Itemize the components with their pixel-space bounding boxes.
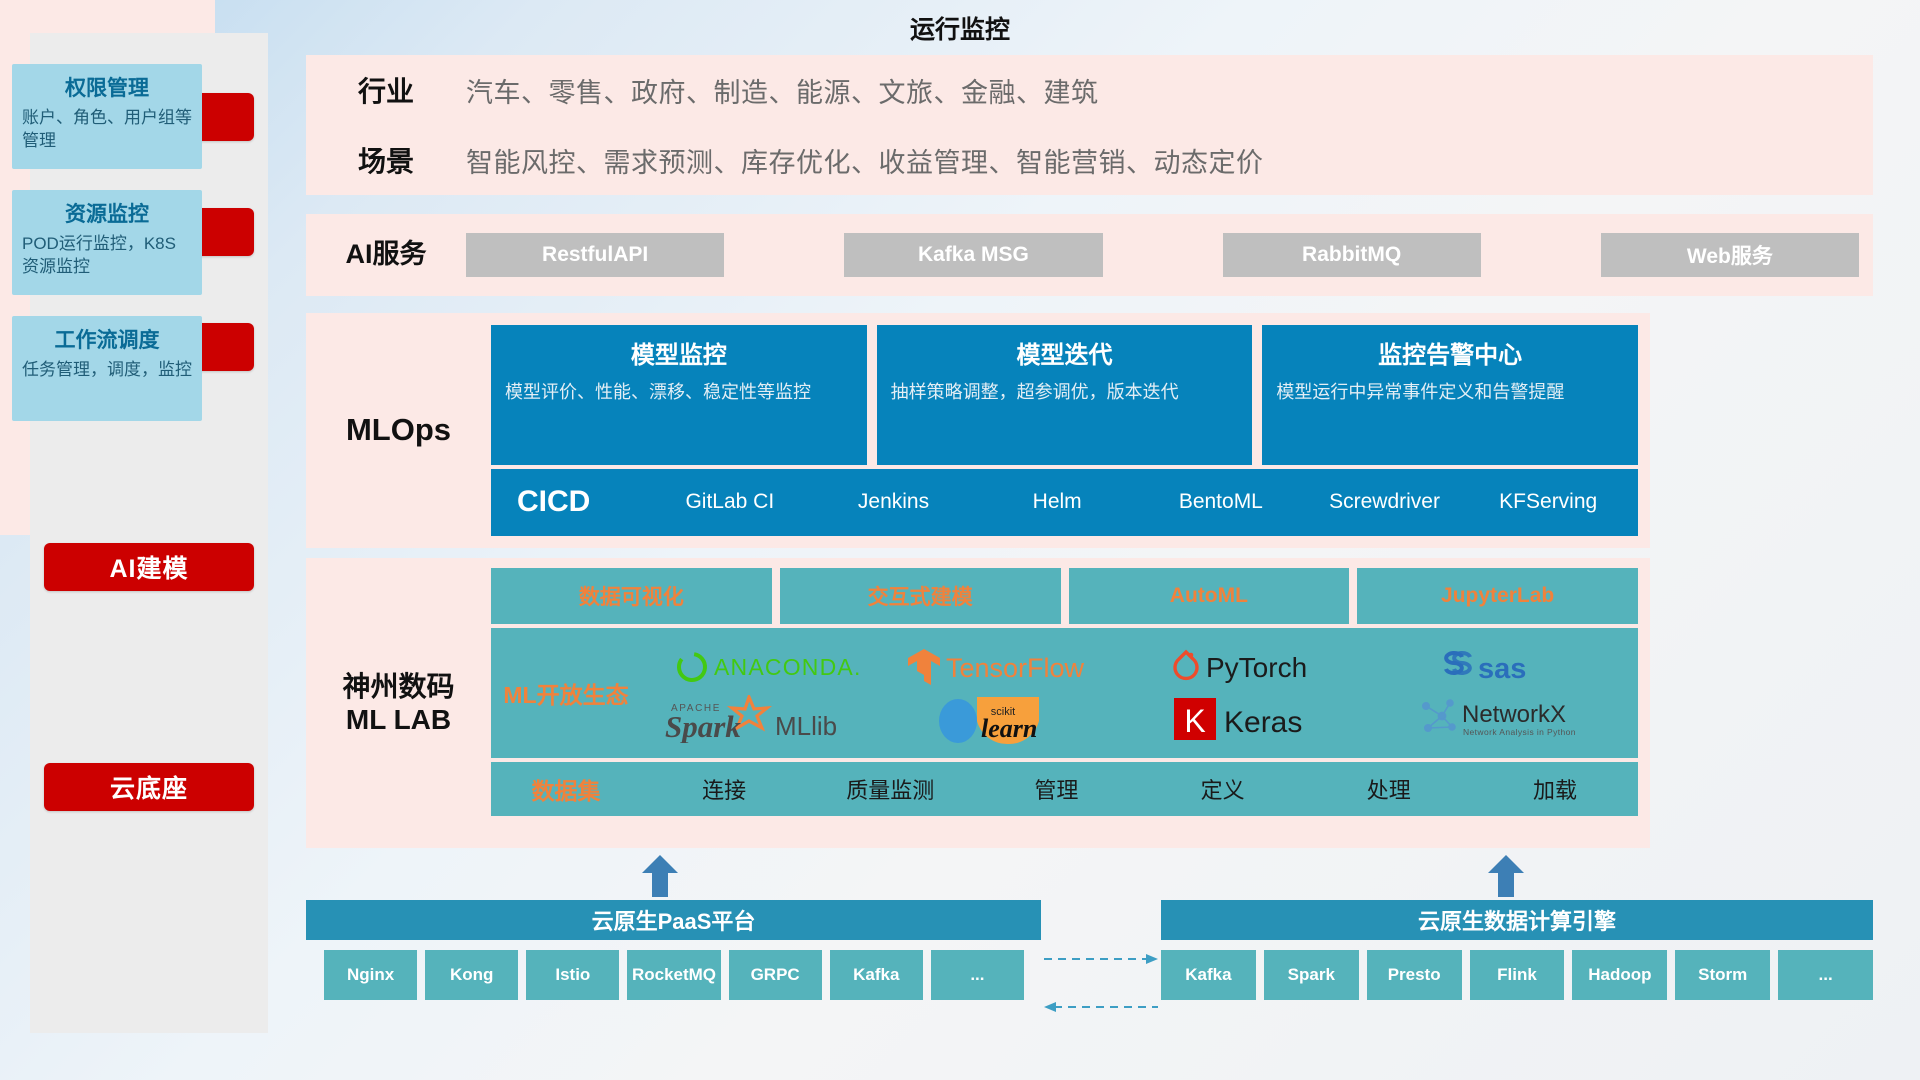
service-chip-rabbitmq[interactable]: RabbitMQ	[1223, 233, 1481, 277]
tool-chip-automl[interactable]: AutoML	[1069, 568, 1350, 624]
card-title: 模型监控	[631, 335, 727, 370]
paas-tag-istio[interactable]: Istio	[526, 950, 619, 1000]
cicd-item-gitlab-ci[interactable]: GitLab CI	[648, 491, 812, 513]
sas-logo: sas	[1438, 647, 1578, 687]
cicd-item-helm[interactable]: Helm	[975, 491, 1139, 513]
dataset-label: 数据集	[491, 772, 641, 806]
paas-tag-more[interactable]: ...	[931, 950, 1024, 1000]
card-desc: 抽样策略调整，超参调优，版本迭代	[891, 380, 1239, 404]
up-arrow-engine	[1486, 855, 1526, 897]
service-chip-restfulapi[interactable]: RestfulAPI	[466, 233, 724, 277]
ai-modeling-panel: 神州数码 ML LAB 数据可视化 交互式建模 AutoML JupyterLa…	[306, 558, 1650, 848]
link-engine-to-paas	[1044, 1000, 1158, 1014]
industry-value: 汽车、零售、政府、制造、能源、文旅、金融、建筑	[466, 71, 1873, 110]
stage-chip-ai-modeling[interactable]: AI建模	[44, 543, 254, 591]
cicd-bar: CICD GitLab CI Jenkins Helm BentoML Scre…	[491, 469, 1638, 536]
card-desc: 账户、角色、用户组等管理	[22, 107, 192, 153]
ml-open-ecosystem-label: ML开放生态	[491, 676, 641, 710]
card-desc: 模型评价、性能、漂移、稳定性等监控	[505, 380, 853, 404]
anaconda-logo: ANACONDA.	[670, 647, 860, 687]
architecture-diagram: 决策应用 模型服务 ML平台 AI建模 云底座 行业 汽车、零售、政府、制造、能…	[0, 0, 1920, 1080]
model-service-panel: AI服务 RestfulAPI Kafka MSG RabbitMQ Web服务	[306, 214, 1873, 296]
scenario-value: 智能风控、需求预测、库存优化、收益管理、智能营销、动态定价	[466, 141, 1873, 180]
mlops-card-model-iteration[interactable]: 模型迭代 抽样策略调整，超参调优，版本迭代	[877, 325, 1253, 465]
ai-service-label: AI服务	[306, 239, 466, 271]
mon-card-resource-monitoring[interactable]: 资源监控 POD运行监控，K8S资源监控	[12, 190, 202, 295]
industry-label: 行业	[306, 70, 466, 110]
engine-tag-flink[interactable]: Flink	[1470, 950, 1565, 1000]
svg-text:PyTorch: PyTorch	[1206, 652, 1307, 683]
dataset-item-manage[interactable]: 管理	[973, 773, 1139, 805]
tensorflow-logo: TensorFlow	[908, 645, 1118, 689]
cicd-item-bentoml[interactable]: BentoML	[1139, 491, 1303, 513]
stage-chip-cloud-base[interactable]: 云底座	[44, 763, 254, 811]
svg-text:NetworkX: NetworkX	[1462, 701, 1566, 728]
paas-tag-grpc[interactable]: GRPC	[729, 950, 822, 1000]
paas-tag-row: Nginx Kong Istio RocketMQ GRPC Kafka ...	[324, 950, 1024, 1000]
card-title: 模型迭代	[1017, 335, 1113, 370]
spark-mllib-logo: APACHE Spark MLlib	[657, 695, 872, 743]
paas-tag-kong[interactable]: Kong	[425, 950, 518, 1000]
paas-tag-kafka[interactable]: Kafka	[830, 950, 923, 1000]
cicd-label: CICD	[517, 485, 642, 519]
paas-platform-bar[interactable]: 云原生PaaS平台	[306, 900, 1041, 940]
engine-tag-row: Kafka Spark Presto Flink Hadoop Storm ..…	[1161, 950, 1873, 1000]
dataset-item-define[interactable]: 定义	[1140, 773, 1306, 805]
mon-card-workflow-scheduling[interactable]: 工作流调度 任务管理，调度，监控	[12, 316, 202, 421]
cicd-item-screwdriver[interactable]: Screwdriver	[1303, 491, 1467, 513]
card-title: 权限管理	[22, 72, 192, 102]
dataset-item-quality[interactable]: 质量监测	[807, 773, 973, 805]
ml-lab-label-line2: ML LAB	[306, 703, 491, 736]
svg-text:Keras: Keras	[1224, 706, 1302, 739]
decision-app-panel: 行业 汽车、零售、政府、制造、能源、文旅、金融、建筑 场景 智能风控、需求预测、…	[306, 55, 1873, 195]
dataset-item-connect[interactable]: 连接	[641, 773, 807, 805]
card-desc: 模型运行中异常事件定义和告警提醒	[1276, 380, 1624, 404]
ml-lab-label-line1: 神州数码	[306, 670, 491, 703]
stage-rail: 决策应用 模型服务 ML平台 AI建模 云底座	[30, 33, 268, 1033]
engine-tag-spark[interactable]: Spark	[1264, 950, 1359, 1000]
dataset-item-load[interactable]: 加载	[1472, 773, 1638, 805]
svg-text:ANACONDA.: ANACONDA.	[714, 654, 860, 680]
networkx-logo: NetworkX Network Analysis in Python	[1416, 694, 1601, 744]
mlops-label: MLOps	[306, 313, 491, 548]
tool-chip-jupyterlab[interactable]: JupyterLab	[1357, 568, 1638, 624]
tool-chip-data-visualization[interactable]: 数据可视化	[491, 568, 772, 624]
svg-text:learn: learn	[981, 714, 1037, 743]
cicd-item-jenkins[interactable]: Jenkins	[812, 491, 976, 513]
card-title: 工作流调度	[22, 324, 192, 354]
ml-platform-panel: MLOps 模型监控 模型评价、性能、漂移、稳定性等监控 模型迭代 抽样策略调整…	[306, 313, 1650, 548]
scikit-learn-logo: scikit learn	[925, 693, 1100, 745]
svg-text:TensorFlow: TensorFlow	[946, 653, 1085, 683]
runtime-monitoring-title: 运行监控	[0, 10, 1920, 46]
service-chip-web-service[interactable]: Web服务	[1601, 233, 1859, 277]
card-desc: 任务管理，调度，监控	[22, 359, 192, 382]
scenario-label: 场景	[306, 140, 466, 180]
ml-lab-label: 神州数码 ML LAB	[306, 558, 491, 848]
mon-card-permission-management[interactable]: 权限管理 账户、角色、用户组等管理	[12, 64, 202, 169]
link-paas-to-engine	[1044, 952, 1158, 966]
tool-chip-interactive-modeling[interactable]: 交互式建模	[780, 568, 1061, 624]
svg-text:K: K	[1185, 703, 1206, 739]
engine-tag-presto[interactable]: Presto	[1367, 950, 1462, 1000]
pytorch-logo: PyTorch	[1168, 646, 1353, 688]
svg-text:MLlib: MLlib	[775, 711, 837, 741]
engine-tag-kafka[interactable]: Kafka	[1161, 950, 1256, 1000]
card-title: 资源监控	[22, 198, 192, 228]
keras-logo: K Keras	[1170, 695, 1350, 743]
card-title: 监控告警中心	[1378, 335, 1522, 370]
engine-tag-more[interactable]: ...	[1778, 950, 1873, 1000]
dataset-row: 数据集 连接 质量监测 管理 定义 处理 加载	[491, 762, 1638, 816]
card-desc: POD运行监控，K8S资源监控	[22, 233, 192, 279]
svg-text:Network Analysis in Python: Network Analysis in Python	[1463, 727, 1576, 737]
up-arrow-paas	[640, 855, 680, 897]
paas-tag-rocketmq[interactable]: RocketMQ	[627, 950, 720, 1000]
svg-text:Spark: Spark	[665, 709, 741, 743]
paas-tag-nginx[interactable]: Nginx	[324, 950, 417, 1000]
mlops-card-alert-center[interactable]: 监控告警中心 模型运行中异常事件定义和告警提醒	[1262, 325, 1638, 465]
engine-tag-storm[interactable]: Storm	[1675, 950, 1770, 1000]
service-chip-kafka-msg[interactable]: Kafka MSG	[844, 233, 1102, 277]
svg-text:sas: sas	[1478, 653, 1526, 685]
dataset-item-process[interactable]: 处理	[1306, 773, 1472, 805]
ml-open-ecosystem-row: ML开放生态 ANACONDA.	[491, 628, 1638, 758]
engine-tag-hadoop[interactable]: Hadoop	[1572, 950, 1667, 1000]
mlops-card-model-monitoring[interactable]: 模型监控 模型评价、性能、漂移、稳定性等监控	[491, 325, 867, 465]
data-engine-bar[interactable]: 云原生数据计算引擎	[1161, 900, 1873, 940]
cicd-item-kfserving[interactable]: KFServing	[1466, 491, 1630, 513]
